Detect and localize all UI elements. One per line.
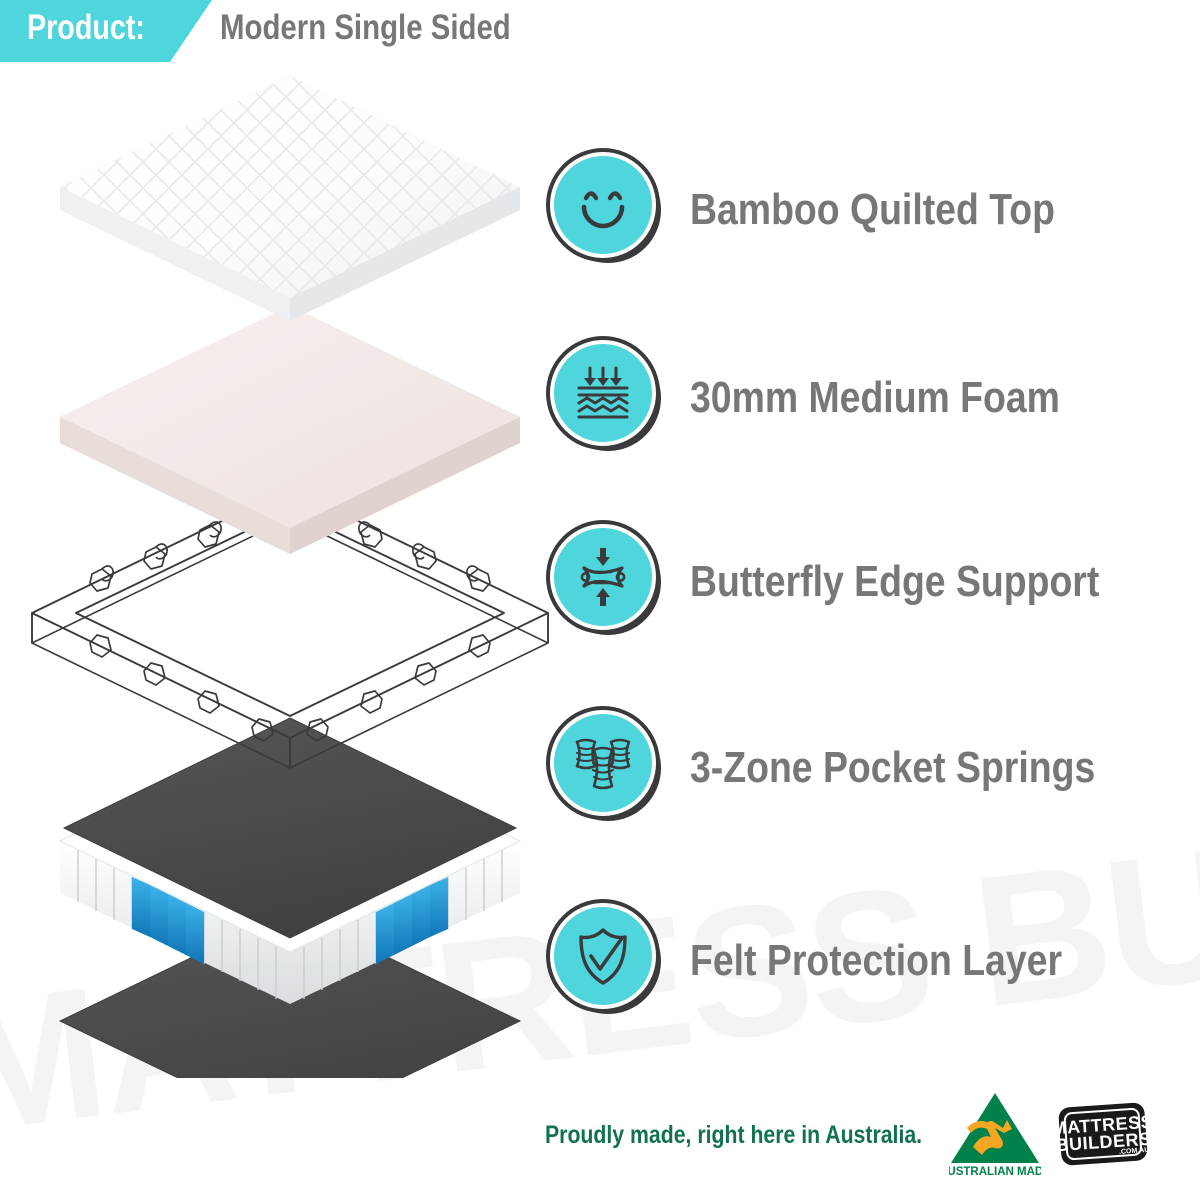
- icon-circle: [550, 524, 656, 630]
- feature-label: 30mm Medium Foam: [690, 373, 1060, 423]
- feature-label: 3-Zone Pocket Springs: [690, 743, 1095, 793]
- icon-circle: [550, 710, 656, 816]
- feature-row-felt-protection-layer[interactable]: Felt Protection Layer: [550, 903, 1128, 1019]
- australian-made-logo: AUSTRALIAN MADE: [949, 1091, 1041, 1179]
- icon-wrapper: [550, 710, 666, 826]
- australian-made-caption: AUSTRALIAN MADE: [949, 1166, 1041, 1178]
- mattress-builders-logo: MATTRESS BUILDERS .COM.AU: [1055, 1097, 1151, 1173]
- mattress-exploded-view: [0, 58, 580, 1078]
- product-label: Product:: [27, 8, 145, 48]
- feature-row-butterfly-edge-support[interactable]: Butterfly Edge Support: [550, 524, 1172, 640]
- icon-wrapper: [550, 340, 666, 456]
- product-layer-infographic: MATTRESS BUILDERS Product: Modern Single…: [0, 0, 1200, 1200]
- feature-label: Bamboo Quilted Top: [690, 185, 1055, 235]
- feature-label: Felt Protection Layer: [690, 936, 1062, 986]
- product-title: Modern Single Sided: [220, 8, 511, 48]
- shield-check-icon: [572, 924, 634, 988]
- foam-panel: [60, 306, 520, 554]
- header-bar: Product: Modern Single Sided: [0, 0, 1200, 62]
- icon-circle: [550, 903, 656, 1009]
- icon-wrapper: [550, 152, 666, 268]
- foam-waves-icon: [571, 361, 635, 425]
- feature-row-medium-foam[interactable]: 30mm Medium Foam: [550, 340, 1125, 456]
- made-in-australia-tagline: Proudly made, right here in Australia.: [545, 1121, 885, 1150]
- butterfly-compression-icon: [570, 544, 636, 610]
- footer-bar: Proudly made, right here in Australia. A…: [545, 1085, 1190, 1185]
- icon-circle: [550, 152, 656, 258]
- icon-wrapper: [550, 524, 666, 640]
- coil-springs-icon: [569, 730, 637, 796]
- quilted-top-panel: [60, 76, 520, 321]
- icon-circle: [550, 340, 656, 446]
- feature-row-pocket-springs[interactable]: 3-Zone Pocket Springs: [550, 710, 1167, 826]
- smiley-face-icon: [572, 174, 634, 236]
- icon-wrapper: [550, 903, 666, 1019]
- feature-row-bamboo-quilted-top[interactable]: Bamboo Quilted Top: [550, 152, 1119, 268]
- feature-label: Butterfly Edge Support: [690, 557, 1099, 607]
